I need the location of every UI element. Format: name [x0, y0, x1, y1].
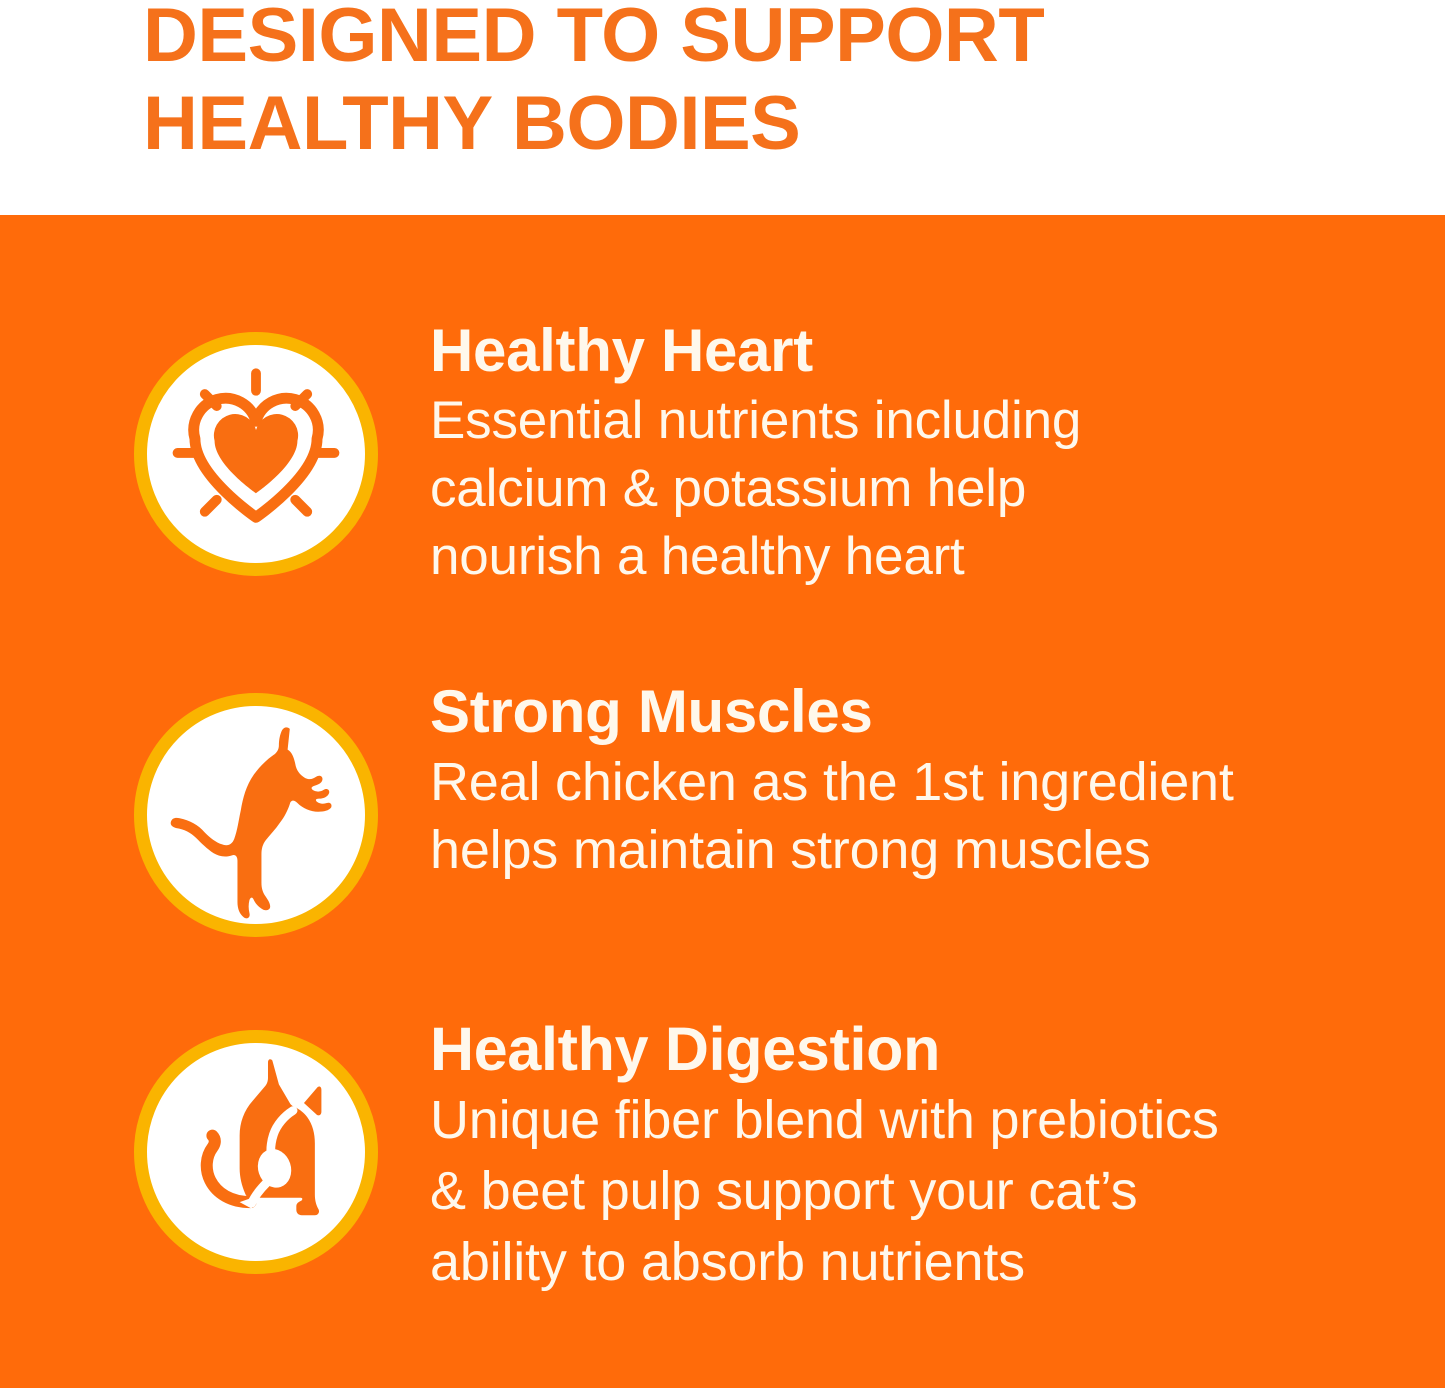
badge-healthy-heart — [134, 332, 378, 576]
feature-title: Healthy Heart — [430, 317, 1405, 385]
cat-body — [240, 1059, 322, 1215]
badge-healthy-digestion — [134, 1030, 378, 1274]
feature-text-healthy-heart: Healthy Heart Essential nutrients includ… — [430, 317, 1405, 591]
feature-text-healthy-digestion: Healthy Digestion Unique fiber blend wit… — [430, 1015, 1405, 1298]
feature-body: Unique fiber blend with prebiotics & bee… — [430, 1085, 1405, 1298]
feature-body: Real chicken as the 1st ingredient helps… — [430, 748, 1405, 884]
cat-silhouette — [171, 727, 332, 918]
radiant-heart-icon — [147, 345, 365, 563]
feature-body: Essential nutrients including calcium & … — [430, 387, 1405, 591]
jumping-cat-icon — [147, 706, 365, 924]
header-band: DESIGNED TO SUPPORT HEALTHY BODIES — [0, 0, 1445, 215]
product-benefits-infographic: DESIGNED TO SUPPORT HEALTHY BODIES — [0, 0, 1445, 1388]
page-title: DESIGNED TO SUPPORT HEALTHY BODIES — [143, 0, 1283, 168]
sitting-cat-digestion-icon — [147, 1043, 365, 1261]
feature-title: Strong Muscles — [430, 678, 1405, 746]
badge-strong-muscles — [134, 693, 378, 937]
benefits-panel: Healthy Heart Essential nutrients includ… — [0, 215, 1445, 1388]
feature-text-strong-muscles: Strong Muscles Real chicken as the 1st i… — [430, 678, 1405, 884]
feature-title: Healthy Digestion — [430, 1015, 1405, 1083]
